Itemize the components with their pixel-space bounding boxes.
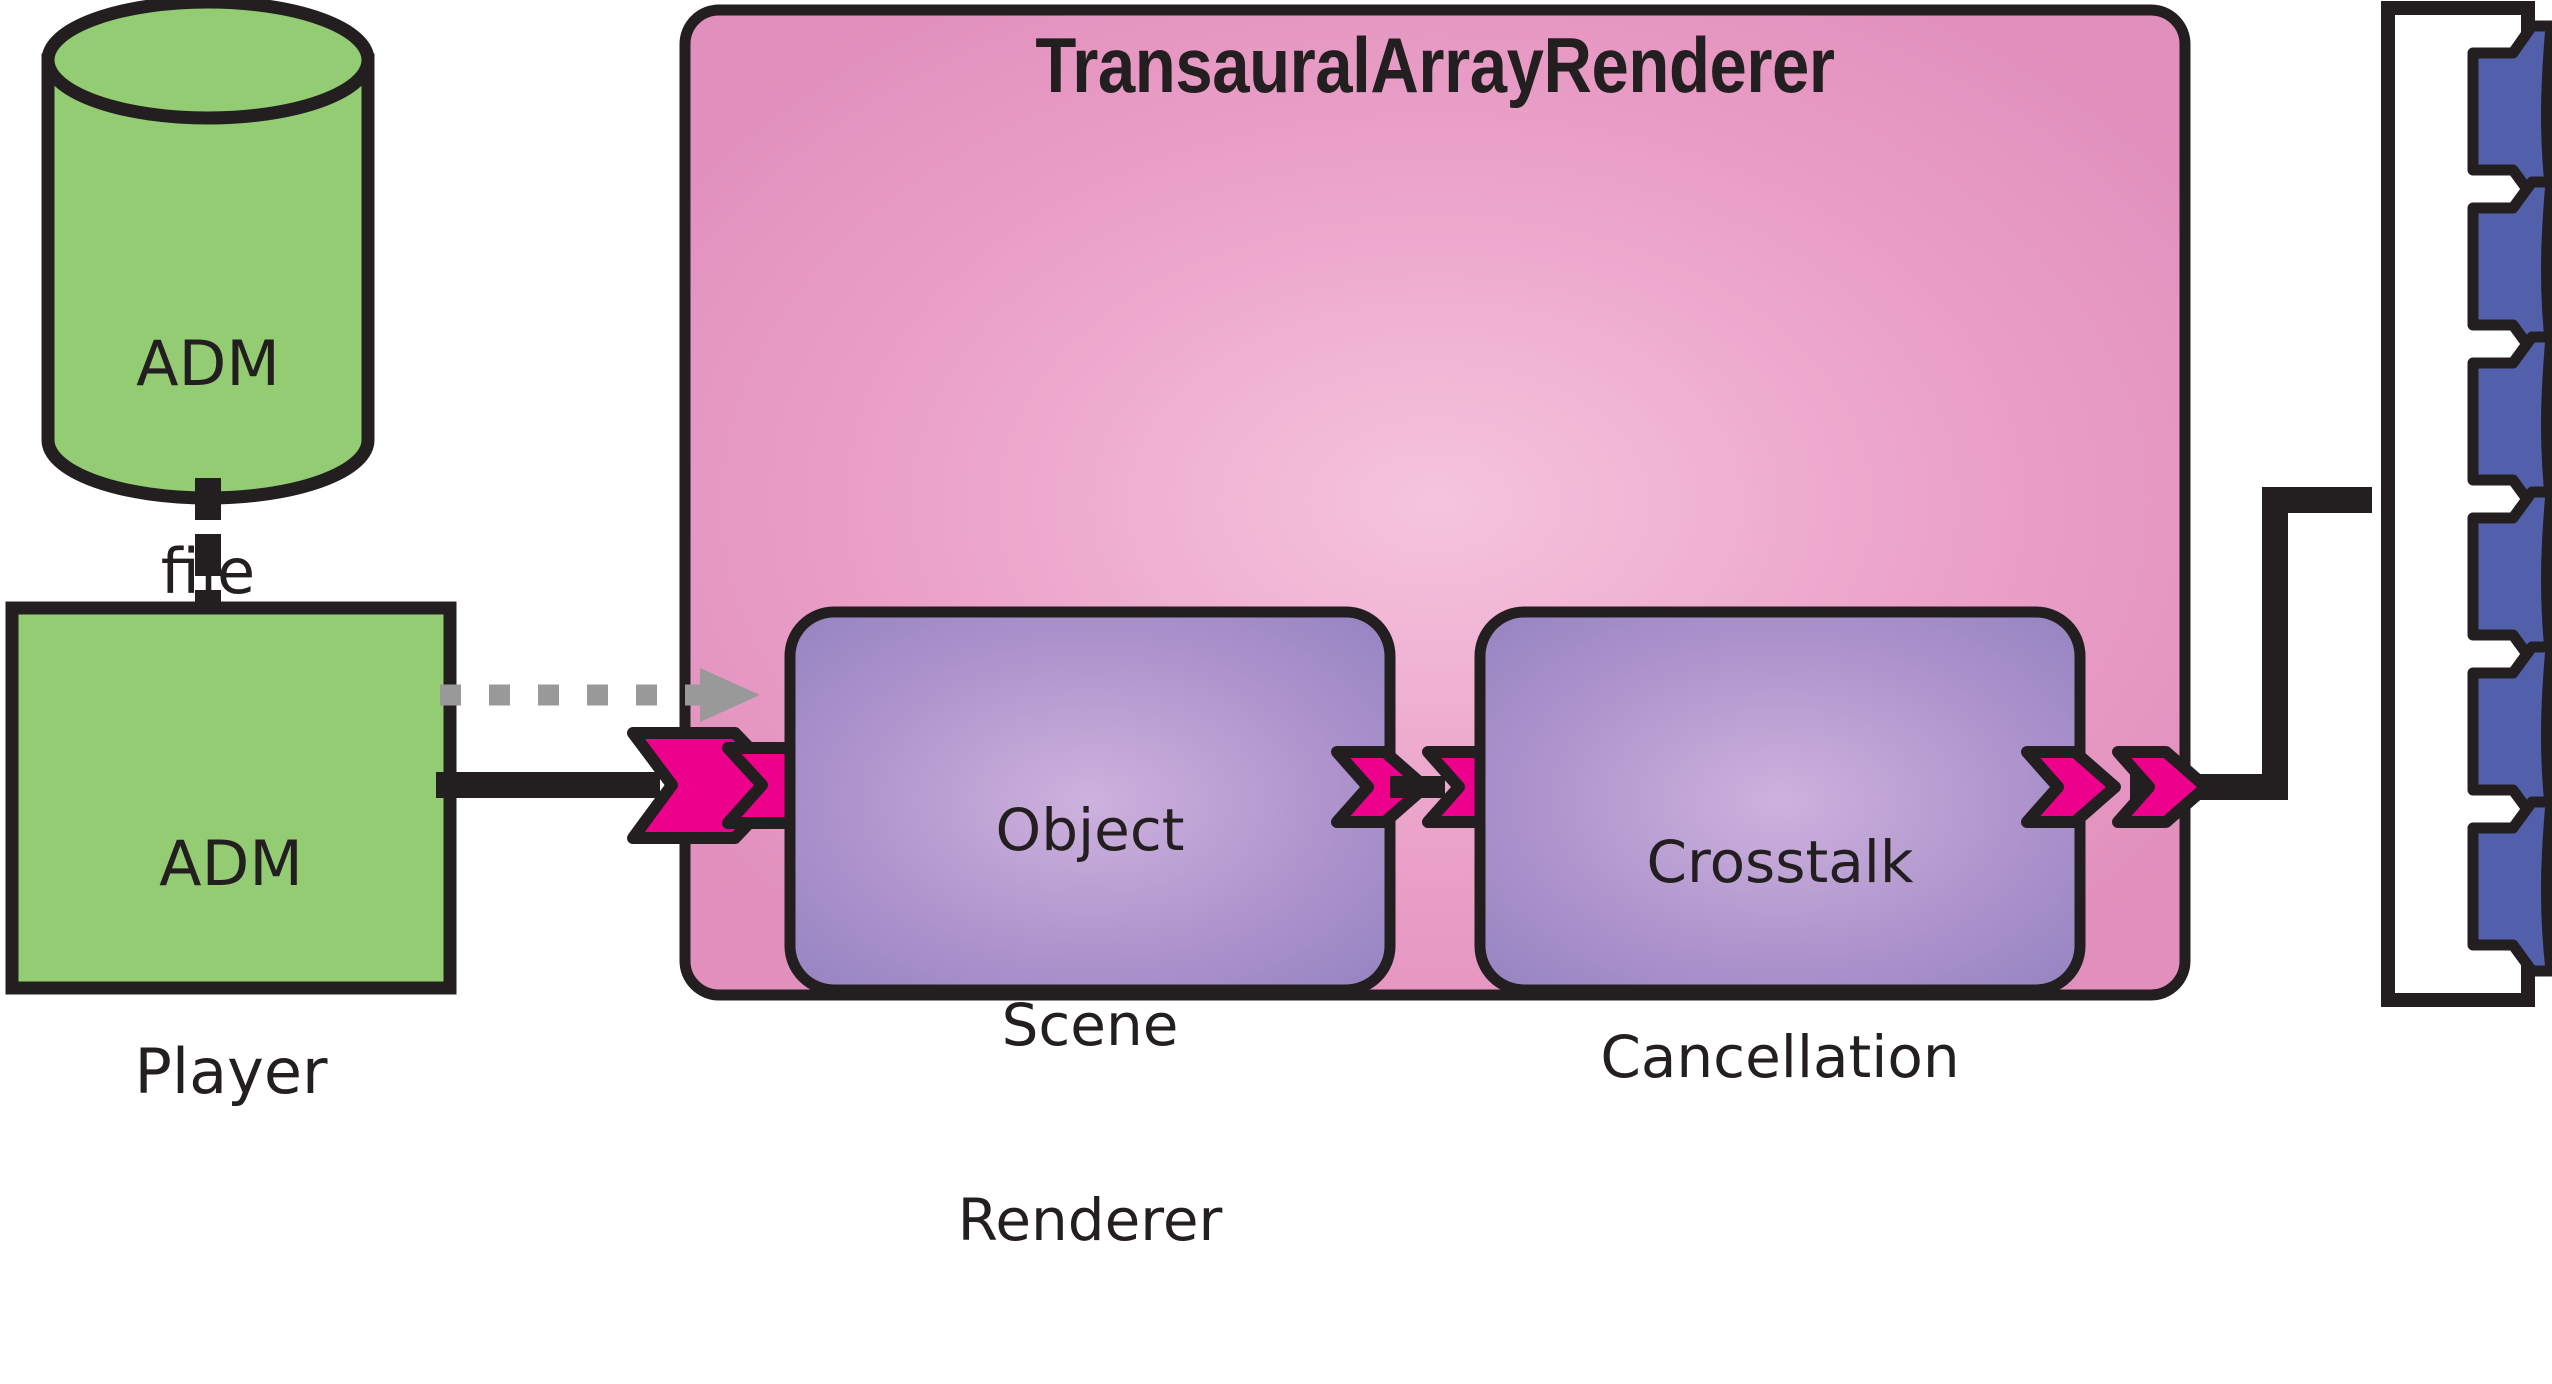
adm-file-shape[interactable] — [48, 2, 368, 498]
crosstalk-cancellation-label-line2: Cancellation — [1480, 1025, 2080, 1090]
metadata-dotted-arrow — [440, 668, 760, 722]
object-scene-renderer-label-line3: Renderer — [790, 1188, 1390, 1253]
loudspeaker-cone-icon-3 — [2473, 337, 2551, 506]
diagram-vector-layer — [0, 0, 2552, 1008]
loudspeaker-cone-icon-4 — [2473, 492, 2551, 661]
loudspeaker-cone-icon-2 — [2473, 182, 2551, 351]
adm-player-shape[interactable] — [12, 608, 450, 988]
adm-player-label-line2: Player — [12, 1037, 450, 1106]
loudspeaker-cone-icon-5 — [2473, 647, 2551, 816]
diagram-canvas: ADM file ADM Player TransauralArrayRende… — [0, 0, 2552, 1008]
loudspeaker-cone-icon-6 — [2473, 802, 2551, 971]
loudspeaker-cone-icon-1 — [2473, 26, 2551, 196]
crosstalk-cancellation-shape[interactable] — [1480, 612, 2080, 990]
object-scene-renderer-shape[interactable] — [790, 612, 1390, 990]
